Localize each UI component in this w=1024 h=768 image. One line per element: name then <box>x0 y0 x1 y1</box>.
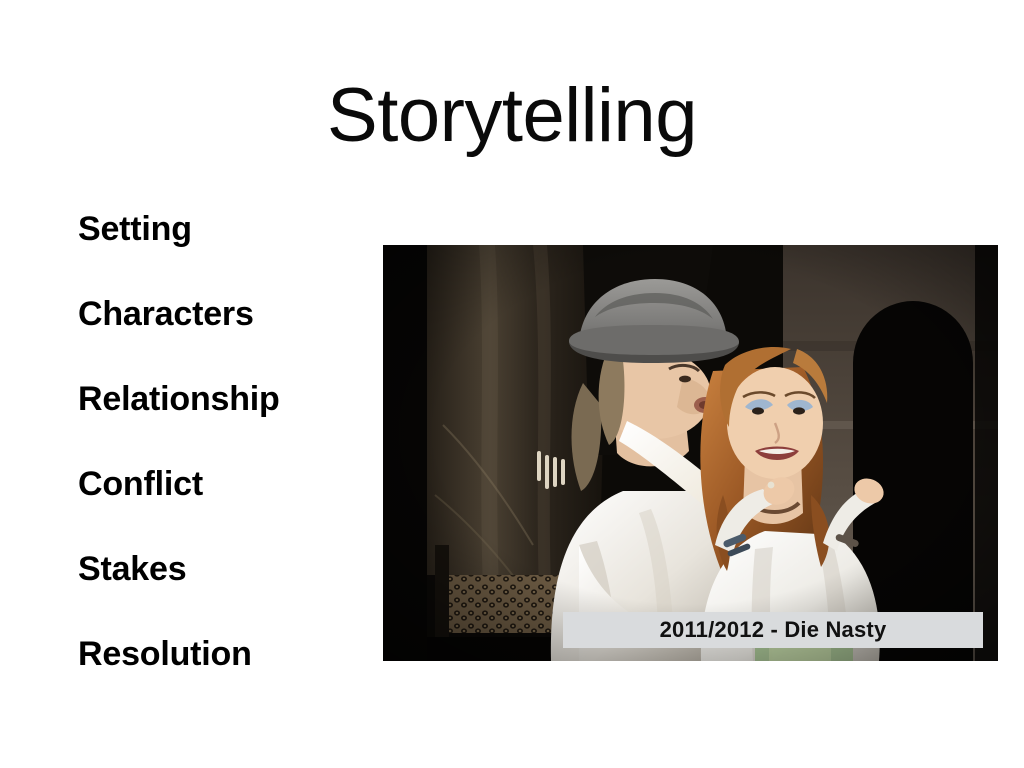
list-item: Stakes <box>78 552 378 586</box>
list-item: Resolution <box>78 637 378 671</box>
list-item: Relationship <box>78 382 378 416</box>
stage-photo-illustration <box>383 245 998 661</box>
outline-list: Setting Characters Relationship Conflict… <box>78 212 378 671</box>
photo-caption: 2011/2012 - Die Nasty <box>563 612 983 648</box>
page-title: Storytelling <box>0 78 1024 154</box>
list-item: Conflict <box>78 467 378 501</box>
photo-caption-text: 2011/2012 - Die Nasty <box>660 617 887 643</box>
list-item: Characters <box>78 297 378 331</box>
stage-photo <box>383 245 998 661</box>
list-item: Setting <box>78 212 378 246</box>
